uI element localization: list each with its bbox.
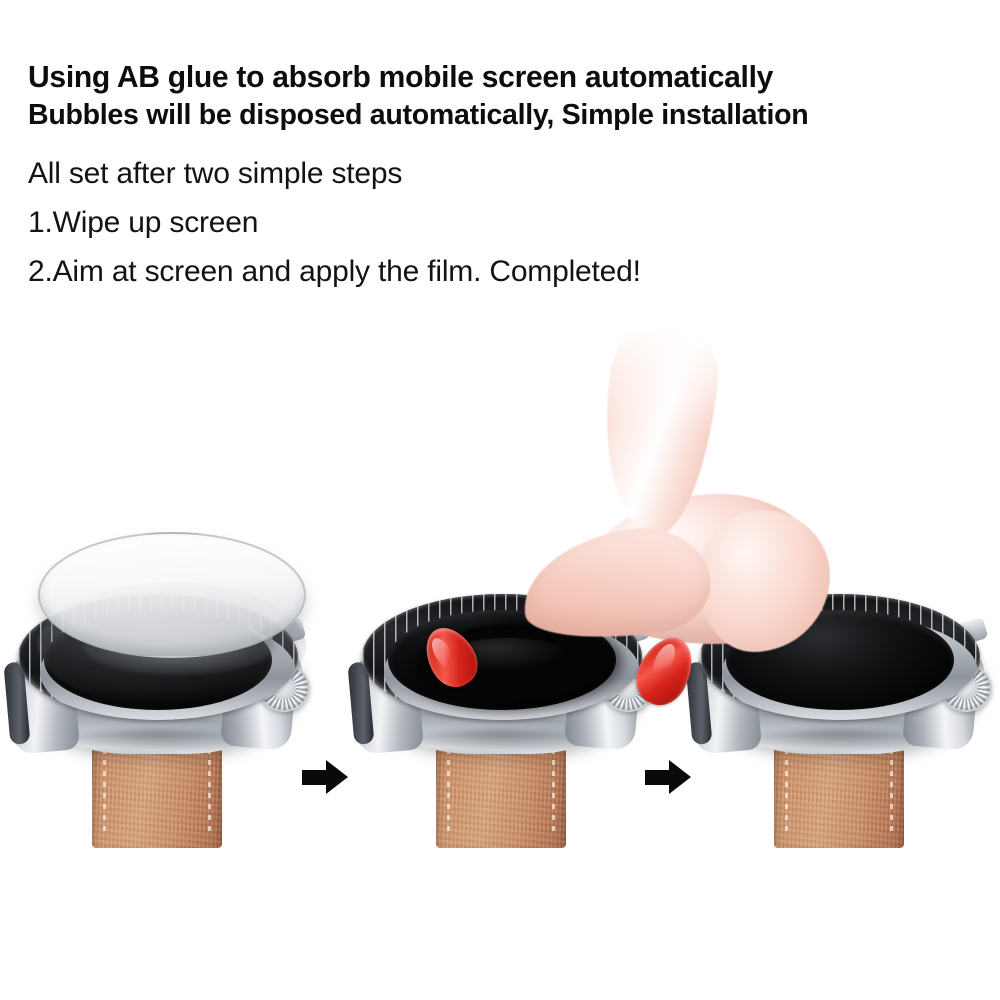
headline-line-2: Bubbles will be disposed automatically, … (28, 96, 966, 134)
step-arrow-2 (645, 760, 691, 794)
screen-protector-film (38, 532, 306, 658)
subhead-text: All set after two simple steps (28, 150, 980, 198)
arrow-head-icon (326, 760, 348, 794)
hand-finger-upper-segment (591, 312, 725, 540)
headline-line-1: Using AB glue to absorb mobile screen au… (28, 58, 966, 96)
product-demo-scene: 16 14 12 10 8 16 14 12 10 (0, 540, 1000, 870)
watch-completed: 16 14 12 10 8 (690, 568, 990, 858)
watch-film-applied-pressed: 16 14 12 10 8 (352, 568, 652, 858)
hand-top-fade (546, 312, 846, 432)
watch-film-hovering: 16 14 12 10 8 (8, 568, 308, 858)
step-item-2: 2.Aim at screen and apply the film. Comp… (28, 247, 980, 296)
watch-dial-screen (388, 610, 616, 710)
bezel-numeral-16: 16 (713, 687, 727, 698)
watch-bezel: 16 14 12 10 8 (700, 594, 980, 720)
watch-dial-screen (726, 610, 954, 710)
step-item-1: 1.Wipe up screen (28, 198, 980, 247)
step-arrow-1 (302, 760, 348, 794)
bezel-numeral-16: 16 (375, 687, 389, 698)
watch-bezel: 16 14 12 10 8 (362, 594, 642, 720)
arrow-head-icon (669, 760, 691, 794)
bezel-numeral-16: 16 (31, 687, 45, 698)
instructions-block: Using AB glue to absorb mobile screen au… (28, 58, 980, 296)
